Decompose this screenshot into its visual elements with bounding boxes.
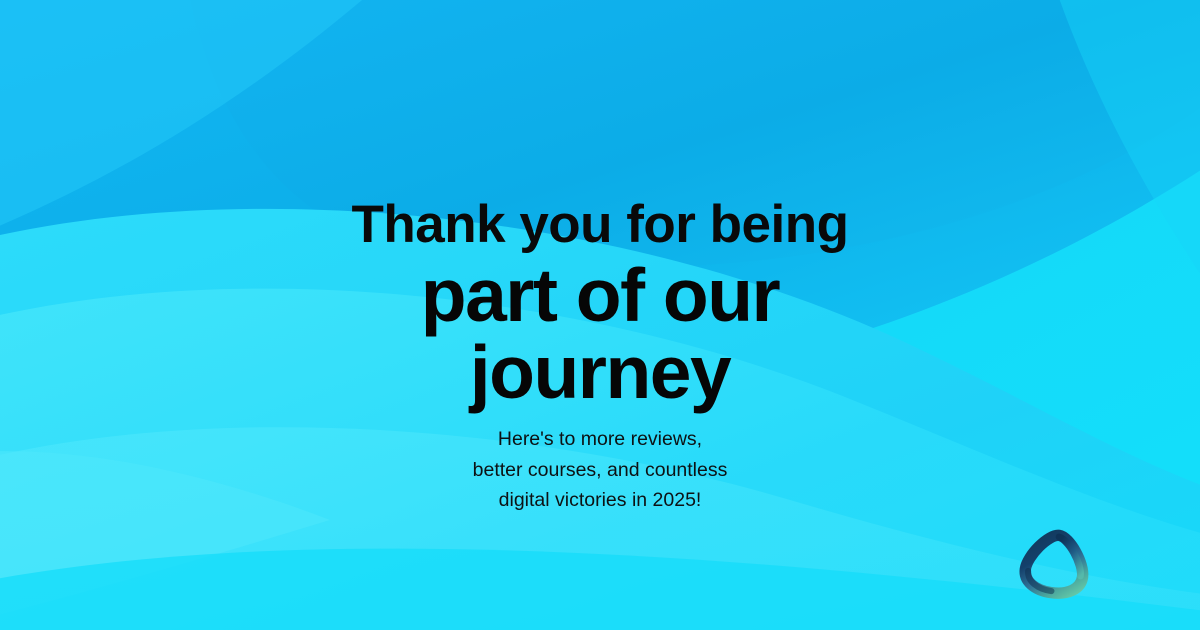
subtitle-line-1: Here's to more reviews, [0, 424, 1200, 455]
subtitle-line-3: digital victories in 2025! [0, 485, 1200, 516]
subtitle-line-2: better courses, and countless [0, 455, 1200, 486]
rounded-triangle-ring-logo-icon [1017, 526, 1093, 602]
banner-canvas: Thank you for being part of our journey … [0, 0, 1200, 630]
headline-line-3: journey [0, 332, 1200, 412]
banner-content: Thank you for being part of our journey … [0, 0, 1200, 630]
headline-line-1: Thank you for being [0, 192, 1200, 258]
headline-line-2: part of our [0, 258, 1200, 332]
headline: Thank you for being part of our journey [0, 192, 1200, 412]
subtitle: Here's to more reviews, better courses, … [0, 424, 1200, 516]
